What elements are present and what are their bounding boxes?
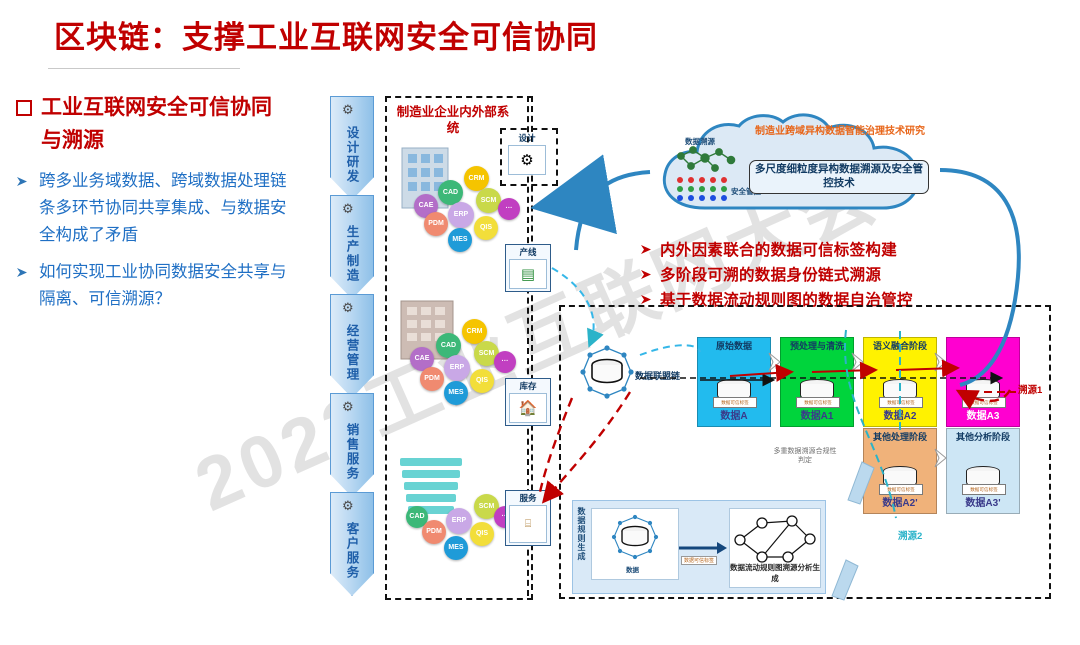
system-cluster-2: CAE CAD CRM PDM ERP SCM MES QIS ··· <box>398 295 516 395</box>
system-bubble-pdm[interactable]: PDM <box>420 367 444 391</box>
data-cylinder-icon: 数据可信标签 <box>883 379 917 405</box>
blockchain-ring-icon <box>576 344 638 406</box>
lifecycle-chevron-strip: ⚙ 设计研发 ⚙ 生产制造 ⚙ 经营管理 ⚙ 销售服务 ⚙ 客户服务 <box>330 96 372 596</box>
lifecycle-stage-4-label: 客户服务 <box>343 522 362 580</box>
data-cylinder-icon: 数据可信标签 <box>883 466 917 492</box>
lifecycle-stage-1[interactable]: ⚙ 生产制造 <box>330 195 374 299</box>
left-bullet-2-text: 如何实现工业协同数据安全共享与隔离、可信溯源？ <box>39 259 291 312</box>
square-bullet-icon <box>16 100 32 116</box>
system-bubble-more[interactable]: ··· <box>494 351 516 373</box>
data-cylinder-icon: 数据可信标签 <box>966 379 1000 405</box>
node-service[interactable]: 服务 ⌸ <box>505 490 551 546</box>
gear-icon: ⚙ <box>342 201 354 217</box>
stage-chevron-icon <box>934 352 948 372</box>
trust-tag: 数据可信标签 <box>879 397 923 408</box>
node-design[interactable]: 设计 ⚙ <box>505 131 549 177</box>
system-bubble-erp[interactable]: ERP <box>448 202 474 228</box>
trust-tag: 数据可信标签 <box>962 484 1006 495</box>
dag-card: 数据流动规则图溯源分析生成 <box>729 508 821 588</box>
system-cluster-1: CAE CAD CRM PDM ERP SCM MES QIS ··· <box>398 140 516 240</box>
data-cylinder-icon: 数据可信标签 <box>966 466 1000 492</box>
cloud-title: 制造业跨域异构数据智能治理技术研究 <box>745 125 935 139</box>
data-cylinder-icon: 数据可信标签 <box>717 379 751 405</box>
lifecycle-stage-2[interactable]: ⚙ 经营管理 <box>330 294 374 398</box>
lifecycle-stage-3[interactable]: ⚙ 销售服务 <box>330 393 374 497</box>
node-inventory[interactable]: 库存 🏠 <box>505 378 551 426</box>
trust-tag: 数据可信标签 <box>796 397 840 408</box>
gear-icon: ⚙ <box>342 399 354 415</box>
pipeline-branch-0[interactable]: 其他处理阶段 数据可信标签 数据A2' <box>863 428 937 514</box>
trust-tag: 数据可信标签 <box>962 397 1006 408</box>
system-bubble-mes[interactable]: MES <box>444 536 468 560</box>
pipeline-branch-0-footer: 数据A2' <box>882 494 917 509</box>
key-points-list: 内外因素联合的数据可信标签构建 多阶段可溯的数据身份链式溯源 基于数据流动规则图… <box>640 238 913 313</box>
rule-cylinder-label: 数据 <box>626 564 639 574</box>
title-divider <box>48 68 240 69</box>
pipeline-stage-2-footer: 数据A2 <box>884 407 917 422</box>
system-bubble-mes[interactable]: MES <box>444 381 468 405</box>
pipeline-stage-3-footer: 数据A3 <box>967 407 1000 422</box>
design-icon: ⚙ <box>508 145 546 175</box>
node-service-label: 服务 <box>519 492 536 504</box>
lifecycle-stage-3-label: 销售服务 <box>343 423 362 481</box>
slide-root: 区块链：支撑工业互联网安全可信协同 工业互联网安全可信协同与溯源 跨多业务域数据… <box>0 0 1080 607</box>
warehouse-icon: 🏠 <box>509 393 547 423</box>
key-point-1-text: 内外因素联合的数据可信标签构建 <box>660 238 897 260</box>
arrow-bullet-icon <box>16 265 29 283</box>
left-heading-row: 工业互联网安全可信协同与溯源 <box>16 92 326 157</box>
stage-chevron-icon <box>851 352 865 372</box>
left-bullet-2: 如何实现工业协同数据安全共享与隔离、可信溯源？ <box>16 259 326 312</box>
node-design-label: 设计 <box>518 132 535 144</box>
system-bubble-mes[interactable]: MES <box>448 228 472 252</box>
lifecycle-stage-0[interactable]: ⚙ 设计研发 <box>330 96 374 200</box>
service-flow-icon: ⌸ <box>509 505 547 543</box>
lifecycle-stage-2-label: 经营管理 <box>343 324 362 382</box>
system-bubble-pdm[interactable]: PDM <box>422 520 446 544</box>
gear-icon: ⚙ <box>342 300 354 316</box>
node-production-line-label: 产线 <box>519 246 536 258</box>
governance-cloud: 制造业跨域异构数据智能治理技术研究 数据溯源 安全管控 多尺度细粒度异构数据溯源… <box>653 112 943 224</box>
arrow-bullet-icon <box>16 174 29 192</box>
pipeline-stage-1[interactable]: 预处理与清洗 数据可信标签 数据A1 <box>780 337 854 427</box>
compliance-note: 多重数据溯源合规性判定 <box>772 448 838 466</box>
trust-tag: 数据可信标签 <box>713 397 757 408</box>
production-line-icon: ▤ <box>509 259 547 289</box>
pipeline-branch-1[interactable]: 其他分析阶段 数据可信标签 数据A3' <box>946 428 1020 514</box>
pipeline-stage-0-header: 原始数据 <box>701 341 767 352</box>
pipeline-stage-2-header: 语义融合阶段 <box>867 341 933 352</box>
rule-arrow-label: 数据可信标签 <box>681 556 717 565</box>
pipeline-branch-0-header: 其他处理阶段 <box>867 432 933 443</box>
rule-graph-panel: 数据规则生成 数据 数据可信标签 <box>572 500 826 594</box>
rule-source-card: 数据 <box>591 508 679 580</box>
pipeline-branch-1-footer: 数据A3' <box>965 494 1000 509</box>
arrow-bullet-icon <box>640 294 653 305</box>
left-bullet-1-text: 跨多业务域数据、跨域数据处理链条多环节协同共享集成、与数据安全构成了矛盾 <box>39 168 291 248</box>
data-cylinder-icon: 数据可信标签 <box>800 379 834 405</box>
key-point-1: 内外因素联合的数据可信标签构建 <box>640 238 913 260</box>
node-inventory-label: 库存 <box>519 380 536 392</box>
left-heading: 工业互联网安全可信协同与溯源 <box>41 92 291 157</box>
trust-tag: 数据可信标签 <box>879 484 923 495</box>
arrow-bullet-icon <box>640 269 653 280</box>
left-text-panel: 工业互联网安全可信协同与溯源 跨多业务域数据、跨域数据处理链条多环节协同共享集成… <box>16 92 326 313</box>
provenance-graph-icon <box>675 146 737 174</box>
rule-arrow-icon <box>679 541 727 555</box>
pipeline-stage-2[interactable]: 语义融合阶段 数据可信标签 数据A2 <box>863 337 937 427</box>
pipeline-stage-0-footer: 数据A <box>720 407 747 422</box>
pipeline-stage-1-footer: 数据A1 <box>801 407 834 422</box>
system-bubble-qis[interactable]: QIS <box>474 216 498 240</box>
enterprise-box-title: 制造业企业内外部系统 <box>392 104 514 137</box>
page-title: 区块链：支撑工业互联网安全可信协同 <box>54 12 694 57</box>
pipeline-stage-1-header: 预处理与清洗 <box>784 341 850 352</box>
trace-label-1: 溯源1 <box>1018 382 1042 396</box>
system-bubble-qis[interactable]: QIS <box>470 522 494 546</box>
stage-chevron-icon <box>768 352 782 372</box>
lifecycle-stage-1-label: 生产制造 <box>343 225 362 283</box>
rule-panel-vertical-label: 数据规则生成 <box>576 507 587 561</box>
gear-icon: ⚙ <box>342 498 354 514</box>
stage-chevron-icon <box>934 448 948 468</box>
gear-icon: ⚙ <box>342 102 354 118</box>
key-point-2-text: 多阶段可溯的数据身份链式溯源 <box>660 263 881 285</box>
pipeline-branch-1-header: 其他分析阶段 <box>950 432 1016 443</box>
chain-label: 数据联盟链 <box>635 369 680 382</box>
system-bubble-pdm[interactable]: PDM <box>424 212 448 236</box>
pipeline-stage-0[interactable]: 原始数据 数据可信标签 数据A <box>697 337 771 427</box>
blockchain-ring-icon <box>606 514 664 562</box>
system-bubble-erp[interactable]: ERP <box>446 508 472 534</box>
left-bullet-1: 跨多业务域数据、跨域数据处理链条多环节协同共享集成、与数据安全构成了矛盾 <box>16 168 326 248</box>
system-bubble-more[interactable]: ··· <box>498 198 520 220</box>
security-matrix-icon <box>675 176 737 202</box>
system-bubble-qis[interactable]: QIS <box>470 369 494 393</box>
arrow-bullet-icon <box>640 244 653 255</box>
lifecycle-stage-0-label: 设计研发 <box>343 126 362 184</box>
lifecycle-stage-4[interactable]: ⚙ 客户服务 <box>330 492 374 596</box>
trace-label-2: 溯源2 <box>898 528 922 542</box>
system-bubble-erp[interactable]: ERP <box>444 355 470 381</box>
pipeline-stage-3[interactable]: 数据可信标签 数据A3 <box>946 337 1020 427</box>
system-cluster-3: CAD PDM ERP SCM MES QIS ··· <box>398 448 516 548</box>
key-point-2: 多阶段可溯的数据身份链式溯源 <box>640 263 913 285</box>
dag-caption: 数据流动规则图溯源分析生成 <box>730 562 820 584</box>
cloud-inner-box: 多尺度细粒度异构数据溯源及安全管控技术 <box>749 160 929 194</box>
node-production-line[interactable]: 产线 ▤ <box>505 244 551 292</box>
